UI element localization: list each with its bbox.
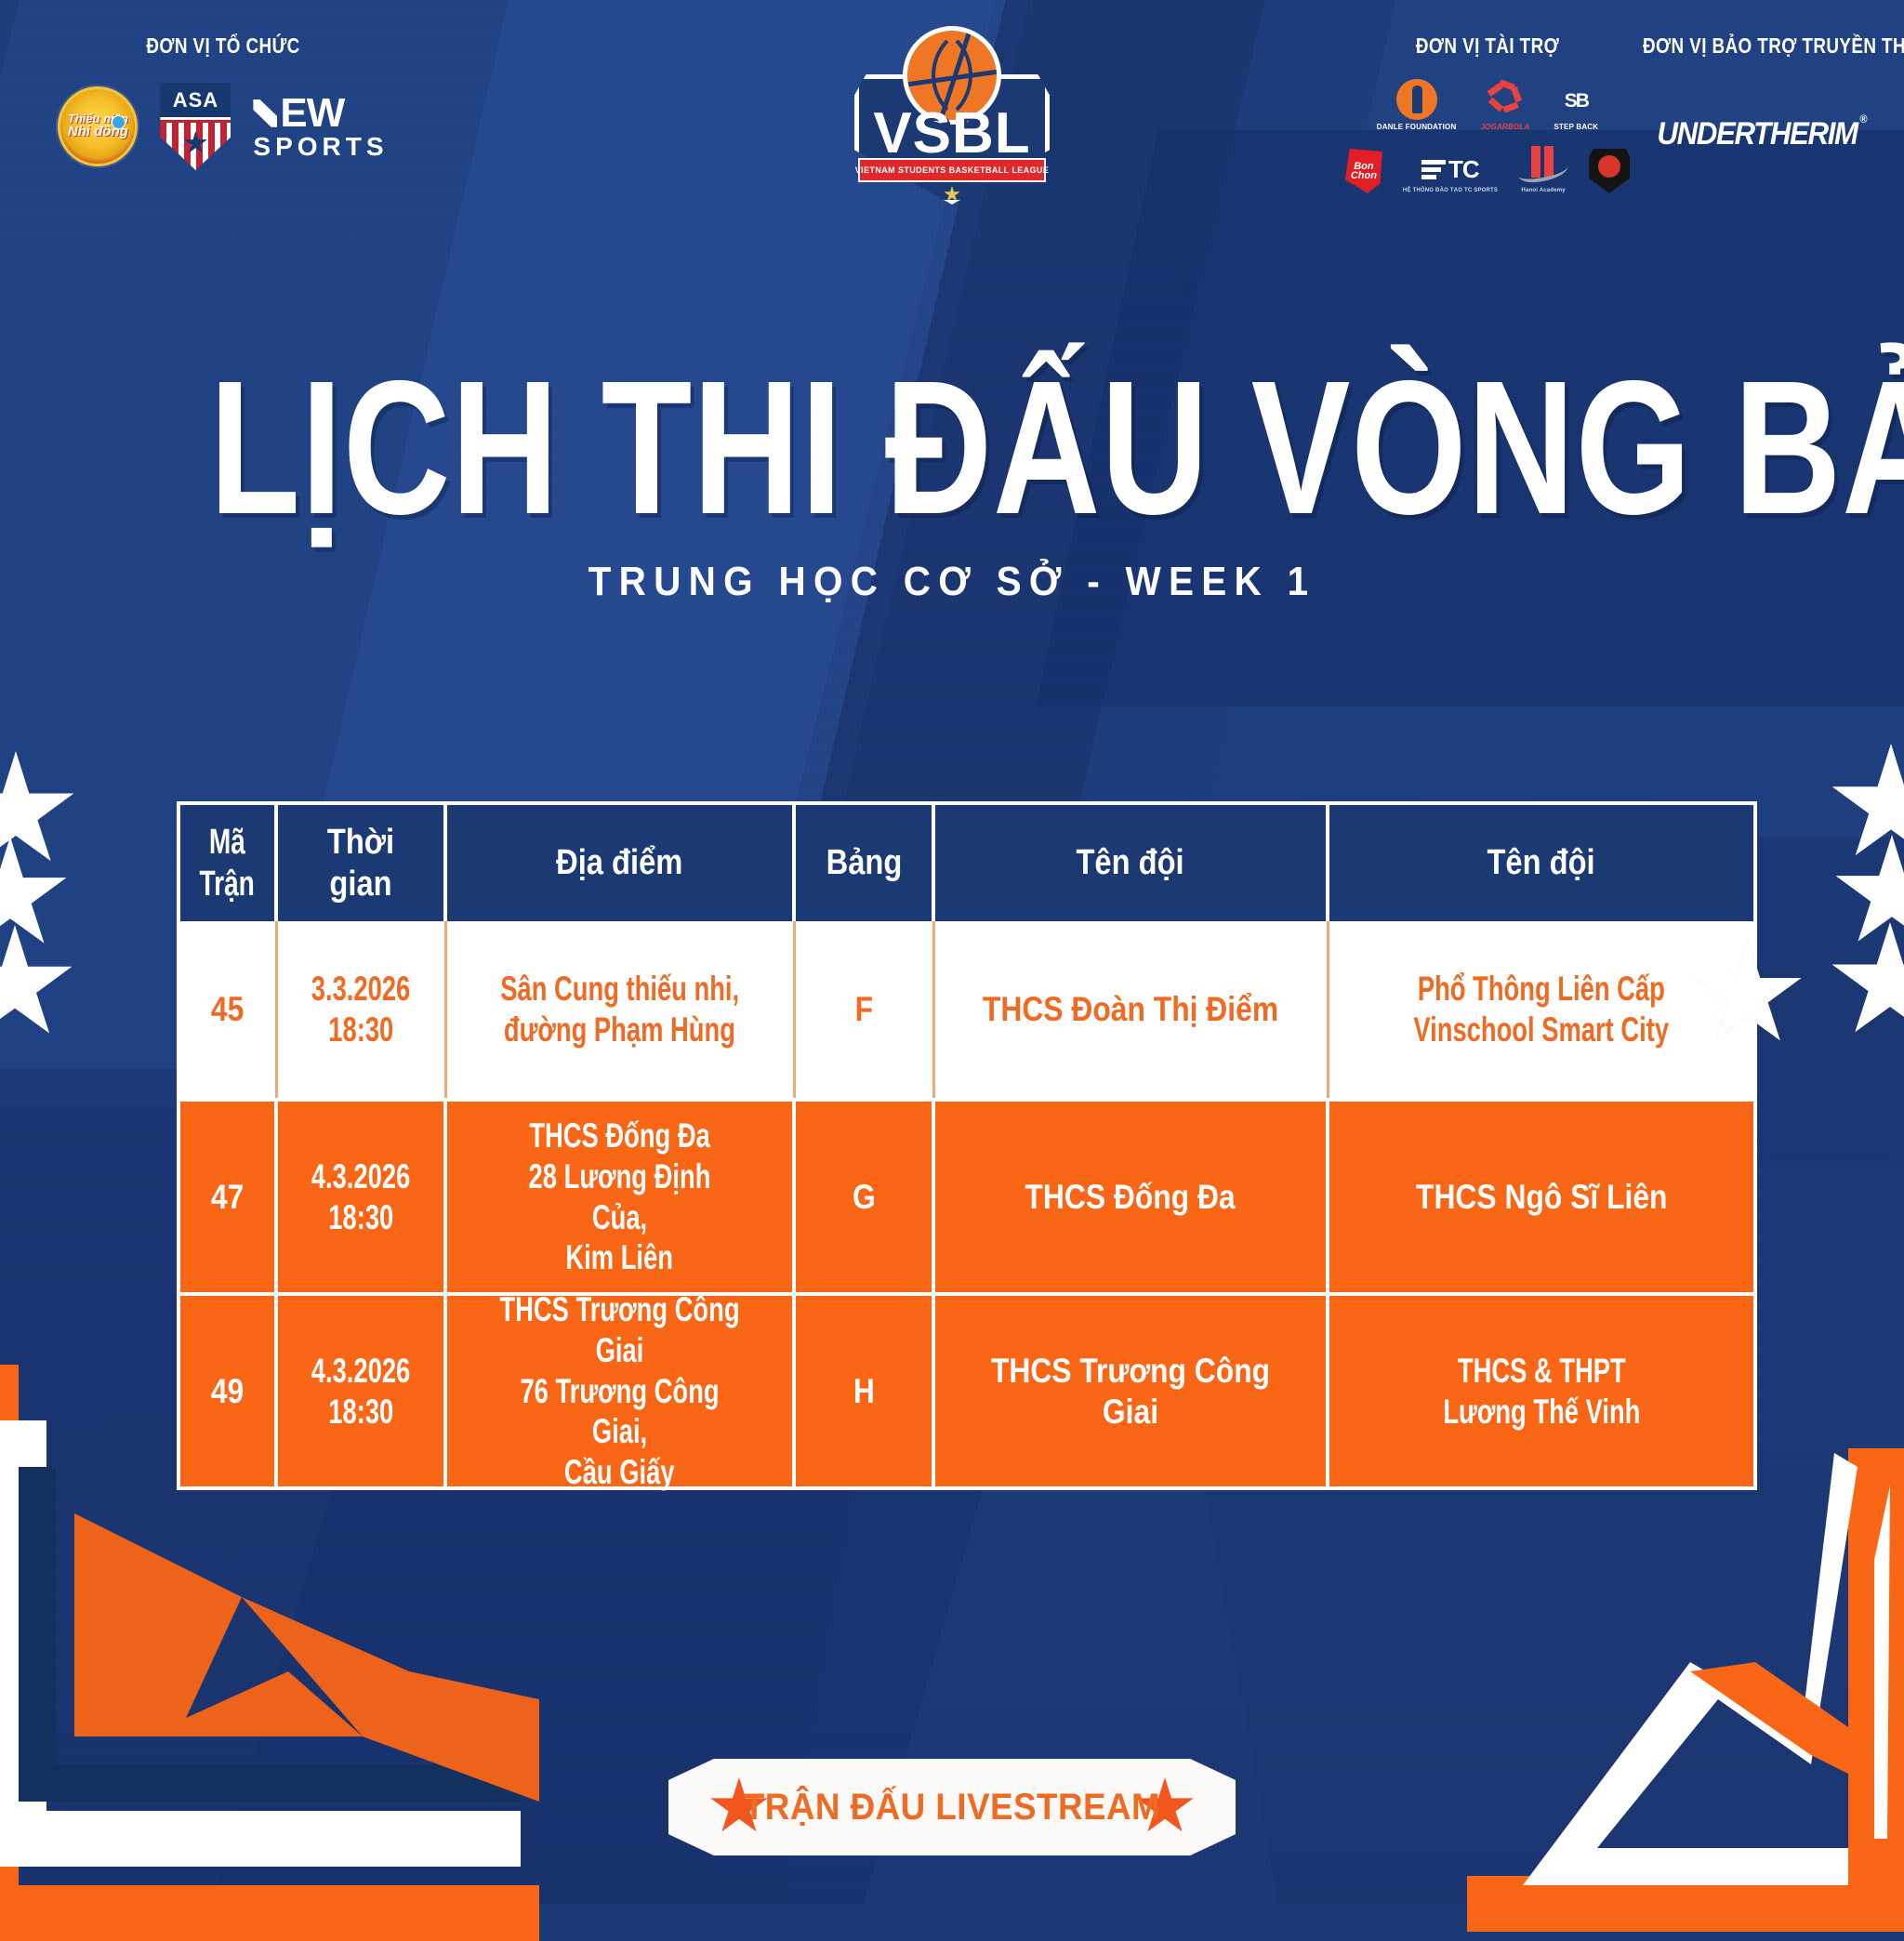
organizer-logos: Thiếu niên Nhi đồng ASA EW SPORTS [28, 83, 418, 170]
danle-foundation-logo: DANLE FOUNDATION [1377, 79, 1457, 131]
step-back-logo: SB STEP BACK [1554, 83, 1598, 131]
media-logos-row: UNDERTHERIM® [1618, 116, 1897, 152]
cell-match-code: 45 [180, 921, 278, 1098]
cell-group: G [796, 1102, 935, 1292]
new-sports-logo: EW SPORTS [253, 94, 388, 159]
new-sports-line1: EW [253, 94, 388, 133]
th-match-code: MãTrận [180, 805, 278, 921]
table-row: 49 4.3.202618:30 THCS Trương Công Giai76… [180, 1292, 1753, 1486]
header: ĐƠN VỊ TỔ CHỨC Thiếu niên Nhi đồng ASA E… [0, 0, 1904, 251]
bonchon-text: Bon Chon [1345, 162, 1382, 181]
cell-venue: THCS Trương Công Giai76 Trương Công Giai… [447, 1296, 796, 1486]
cell-match-code: 49 [180, 1296, 278, 1486]
th-team2: Tên đội [1329, 805, 1753, 921]
asa-logo: ASA [160, 83, 231, 170]
vsbl-wordmark: VSBL [845, 100, 1059, 166]
title-block: LỊCH THI ĐẤU VÒNG BẢNG TRUNG HỌC CƠ SỞ -… [0, 367, 1904, 605]
schedule-table: MãTrận Thời gian Địa điểm Bảng Tên đội T… [177, 801, 1757, 1490]
cell-team1: THCS Đống Đa [935, 1102, 1329, 1292]
cell-time: 4.3.202618:30 [278, 1296, 447, 1486]
cell-venue: Sân Cung thiếu nhi,đường Phạm Hùng [447, 921, 796, 1098]
cell-venue: THCS Đống Đa28 Lương Định Của,Kim Liên [447, 1102, 796, 1292]
media-label: ĐƠN VỊ BẢO TRỢ TRUYỀN THÔNG [1643, 33, 1871, 59]
new-sports-line1-text: EW [280, 94, 344, 133]
cell-team2: Phổ Thông Liên CấpVinschool Smart City [1329, 921, 1753, 1098]
bonchon-mark-icon: Bon Chon [1345, 149, 1382, 193]
sponsor-logos-row-2: Bon Chon TC HỆ THỐNG ĐÀO TẠO TC SPORTS H… [1357, 144, 1618, 193]
cell-group: F [796, 921, 935, 1098]
step-back-mark-icon: SB [1554, 83, 1597, 120]
cell-date: 4.3.2026 [311, 1351, 411, 1392]
page-title: LỊCH THI ĐẤU VÒNG BẢNG [209, 367, 1694, 529]
hanoi-academy-logo: Hanoi Academy [1518, 144, 1568, 193]
th-match-code-l2: Trận [200, 864, 255, 905]
tc-logo: TC HỆ THỐNG ĐÀO TẠO TC SPORTS [1403, 153, 1498, 193]
bottom-right-decoration [1411, 1448, 1904, 1932]
hanoi-academy-caption: Hanoi Academy [1521, 188, 1565, 193]
tc-text: TC [1448, 155, 1479, 184]
jogarbola-mark-icon [1485, 79, 1526, 120]
undertherim-text: UNDERTHERIM [1657, 116, 1857, 152]
th-team1: Tên đội [935, 805, 1329, 921]
undertherim-registered-icon: ® [1859, 112, 1866, 125]
undertherim-logo: UNDERTHERIM® [1657, 116, 1857, 152]
minh-khang-logo [1589, 149, 1630, 193]
tc-caption: HỆ THỐNG ĐÀO TẠO TC SPORTS [1403, 188, 1498, 193]
sponsor-logos-row-1: DANLE FOUNDATION JOGARBOLA SB STEP BACK [1357, 79, 1618, 131]
cell-time: 3.3.202618:30 [278, 921, 447, 1098]
sponsor-block: ĐƠN VỊ TÀI TRỢ DANLE FOUNDATION JOGARBOL… [1357, 33, 1618, 193]
cell-team2: THCS Ngô Sĩ Liên [1329, 1102, 1753, 1292]
table-row: 45 3.3.202618:30 Sân Cung thiếu nhi,đườn… [180, 921, 1753, 1098]
th-time: Thời gian [278, 805, 447, 921]
step-back-caption: STEP BACK [1554, 123, 1598, 131]
cell-time: 4.3.202618:30 [278, 1102, 447, 1292]
asa-logo-text: ASA [160, 83, 231, 120]
cell-group: H [796, 1296, 935, 1486]
danle-caption: DANLE FOUNDATION [1377, 123, 1457, 131]
table-row: 47 4.3.202618:30 THCS Đống Đa28 Lương Đị… [180, 1098, 1753, 1292]
new-sports-mark-icon [253, 99, 277, 127]
organizer-label: ĐƠN VỊ TỔ CHỨC [63, 33, 383, 59]
banner-text: TRẬN ĐẤU LIVESTREAM [691, 1759, 1212, 1855]
cell-team1: THCS Trương Công Giai [935, 1296, 1329, 1486]
jogarbola-caption: JOGARBOLA [1480, 123, 1529, 131]
th-venue: Địa điểm [447, 805, 796, 921]
bonchon-logo: Bon Chon [1345, 149, 1382, 193]
cell-team1: THCS Đoàn Thị Điểm [935, 921, 1329, 1098]
minh-khang-mark-icon [1589, 149, 1630, 193]
th-group: Bảng [796, 805, 935, 921]
hanoi-academy-mark-icon [1518, 144, 1568, 185]
tc-mark-icon: TC [1421, 153, 1479, 185]
vsbl-tagline-ribbon: VIETNAM STUDENTS BASKETBALL LEAGUE [858, 158, 1046, 182]
th-match-code-l1: Mã [209, 822, 245, 864]
cell-date: 3.3.2026 [311, 969, 411, 1010]
cell-date: 4.3.2026 [311, 1156, 411, 1197]
sponsor-label: ĐƠN VỊ TÀI TRỢ [1381, 33, 1594, 59]
danle-basketball-icon [1396, 79, 1437, 120]
cell-team2: THCS & THPTLương Thế Vinh [1329, 1296, 1753, 1486]
media-block: ĐƠN VỊ BẢO TRỢ TRUYỀN THÔNG UNDERTHERIM® [1618, 33, 1897, 152]
organizer-block: ĐƠN VỊ TỔ CHỨC Thiếu niên Nhi đồng ASA E… [28, 33, 418, 170]
table-header-row: MãTrận Thời gian Địa điểm Bảng Tên đội T… [180, 805, 1753, 921]
jogarbola-logo: JOGARBOLA [1480, 79, 1529, 131]
cell-clock: 18:30 [328, 1197, 393, 1238]
cell-clock: 18:30 [328, 1392, 393, 1433]
vsbl-logo: VSBL VIETNAM STUDENTS BASKETBALL LEAGUE [845, 19, 1059, 218]
cell-clock: 18:30 [328, 1010, 393, 1050]
cell-match-code: 47 [180, 1102, 278, 1292]
new-sports-line2: SPORTS [253, 135, 388, 160]
thieu-nhi-logo: Thiếu niên Nhi đồng [58, 86, 138, 166]
livestream-banner: TRẬN ĐẤU LIVESTREAM [668, 1759, 1236, 1855]
page-subtitle: TRUNG HỌC CƠ SỞ - WEEK 1 [76, 559, 1828, 605]
